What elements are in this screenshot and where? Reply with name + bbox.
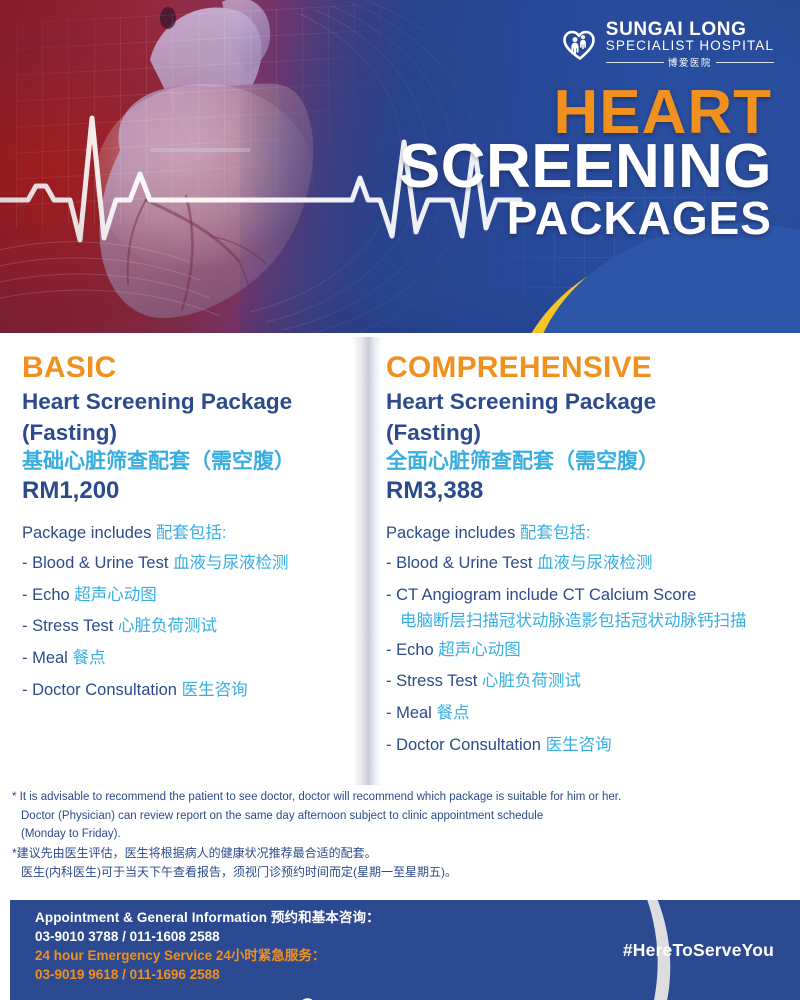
logo-name-line2: SPECIALIST HOSPITAL	[606, 39, 774, 54]
item-en: - Meal	[22, 649, 72, 667]
logo-rule-left	[606, 62, 664, 63]
item-en: - Meal	[386, 704, 436, 722]
package-tier-label: COMPREHENSIVE	[386, 351, 784, 385]
list-item: - Blood & Urine Test 血液与尿液检测	[386, 548, 784, 580]
note-line-3: (Monday to Friday).	[12, 825, 712, 844]
item-sub-cn: 电脑断层扫描冠状动脉造影包括冠状动脉钙扫描	[386, 609, 784, 635]
footer-contact-block: Appointment & General Information 预约和基本咨…	[35, 908, 463, 1000]
item-cn: 医生咨询	[182, 681, 248, 699]
poster-root: SUNGAI LONG SPECIALIST HOSPITAL 博爱医院 HEA…	[0, 0, 800, 1000]
includes-label-en: Package includes	[386, 524, 520, 542]
hero-title-screening: SCREENING	[399, 138, 772, 195]
list-item: - Doctor Consultation 医生咨询	[22, 675, 354, 707]
includes-label-en: Package includes	[22, 524, 156, 542]
package-name-en-line2: (Fasting)	[386, 418, 784, 447]
package-name-en-line2: (Fasting)	[22, 418, 354, 447]
logo-rule-right	[716, 62, 774, 63]
item-cn: 血液与尿液检测	[173, 554, 289, 572]
footer-hashtag: #HereToServeYou	[623, 940, 774, 961]
item-cn: 餐点	[436, 704, 469, 722]
item-cn: 医生咨询	[546, 736, 612, 754]
hero-title: HEART SCREENING PACKAGES	[399, 84, 772, 239]
hero-banner: SUNGAI LONG SPECIALIST HOSPITAL 博爱医院 HEA…	[0, 0, 800, 333]
logo-text-block: SUNGAI LONG SPECIALIST HOSPITAL 博爱医院	[606, 20, 774, 69]
list-item: - Echo 超声心动图	[386, 635, 784, 667]
package-tier-label: BASIC	[22, 351, 354, 385]
emergency-label: 24 hour Emergency Service 24小时紧急服务：	[35, 946, 463, 965]
package-price: RM1,200	[22, 476, 354, 507]
item-en: - Echo	[386, 641, 438, 659]
note-line-5: 医生(内科医生)可于当天下午查看报告，须视门诊预约时间而定(星期一至星期五)。	[12, 863, 712, 882]
logo-name-line1: SUNGAI LONG	[606, 20, 774, 39]
list-item: - Doctor Consultation 医生咨询	[386, 730, 784, 762]
item-en: - Blood & Urine Test	[22, 554, 173, 572]
list-item: - Blood & Urine Test 血液与尿液检测	[22, 548, 354, 580]
item-cn: 血液与尿液检测	[537, 554, 653, 572]
hero-title-packages: PACKAGES	[399, 197, 772, 239]
disclaimer-notes: * It is advisable to recommend the patie…	[12, 788, 712, 883]
item-en: - Echo	[22, 586, 74, 604]
item-en: - Doctor Consultation	[22, 681, 182, 699]
footer-social-row: Sungai Long Specialist Hospital www.sglo…	[35, 994, 463, 1000]
package-price: RM3,388	[386, 476, 784, 507]
appointment-label: Appointment & General Information 预约和基本咨…	[35, 908, 463, 927]
item-en: - Stress Test	[386, 672, 482, 690]
logo-name-cn-row: 博爱医院	[606, 55, 774, 69]
note-line-1: * It is advisable to recommend the patie…	[12, 788, 712, 807]
package-includes-label: Package includes 配套包括:	[386, 521, 784, 546]
package-name-cn: 全面心脏筛查配套（需空腹）	[386, 448, 784, 475]
contact-footer: Appointment & General Information 预约和基本咨…	[10, 900, 800, 1000]
package-name-cn: 基础心脏筛查配套（需空腹）	[22, 448, 354, 475]
list-item: - CT Angiogram include CT Calcium Score电…	[386, 580, 784, 635]
item-en: - Doctor Consultation	[386, 736, 546, 754]
package-card-basic: BASIC Heart Screening Package (Fasting) …	[0, 351, 370, 785]
note-line-2: Doctor (Physician) can review report on …	[12, 807, 712, 826]
list-item: - Meal 餐点	[22, 643, 354, 675]
heart-family-logo-icon	[563, 30, 597, 60]
note-line-4: *建议先由医生评估，医生将根据病人的健康状况推荐最合适的配套。	[12, 844, 712, 863]
package-items-list: - Blood & Urine Test 血液与尿液检测 - CT Angiog…	[386, 548, 784, 762]
list-item: - Echo 超声心动图	[22, 580, 354, 612]
item-cn: 超声心动图	[74, 586, 157, 604]
item-cn: 心脏负荷测试	[118, 617, 217, 635]
hospital-logo: SUNGAI LONG SPECIALIST HOSPITAL 博爱医院	[563, 20, 774, 69]
list-item: - Stress Test 心脏负荷测试	[386, 666, 784, 698]
item-cn: 心脏负荷测试	[482, 672, 581, 690]
item-en: - Stress Test	[22, 617, 118, 635]
includes-label-cn: 配套包括:	[156, 524, 227, 542]
item-en: - Blood & Urine Test	[386, 554, 537, 572]
appointment-phones[interactable]: 03-9010 3788 / 011-1608 2588	[35, 927, 463, 946]
logo-name-cn: 博爱医院	[668, 55, 712, 69]
emergency-phones[interactable]: 03-9019 9618 / 011-1696 2588	[35, 965, 463, 984]
includes-label-cn: 配套包括:	[520, 524, 591, 542]
package-name-en-line1: Heart Screening Package	[22, 387, 354, 416]
package-card-comprehensive: COMPREHENSIVE Heart Screening Package (F…	[370, 351, 800, 785]
item-cn: 超声心动图	[438, 641, 521, 659]
packages-section: BASIC Heart Screening Package (Fasting) …	[0, 333, 800, 785]
package-includes-label: Package includes 配套包括:	[22, 521, 354, 546]
item-cn: 餐点	[72, 649, 105, 667]
list-item: - Stress Test 心脏负荷测试	[22, 611, 354, 643]
package-name-en-line1: Heart Screening Package	[386, 387, 784, 416]
package-items-list: - Blood & Urine Test 血液与尿液检测 - Echo 超声心动…	[22, 548, 354, 706]
item-en: - CT Angiogram include CT Calcium Score	[386, 586, 696, 604]
list-item: - Meal 餐点	[386, 698, 784, 730]
